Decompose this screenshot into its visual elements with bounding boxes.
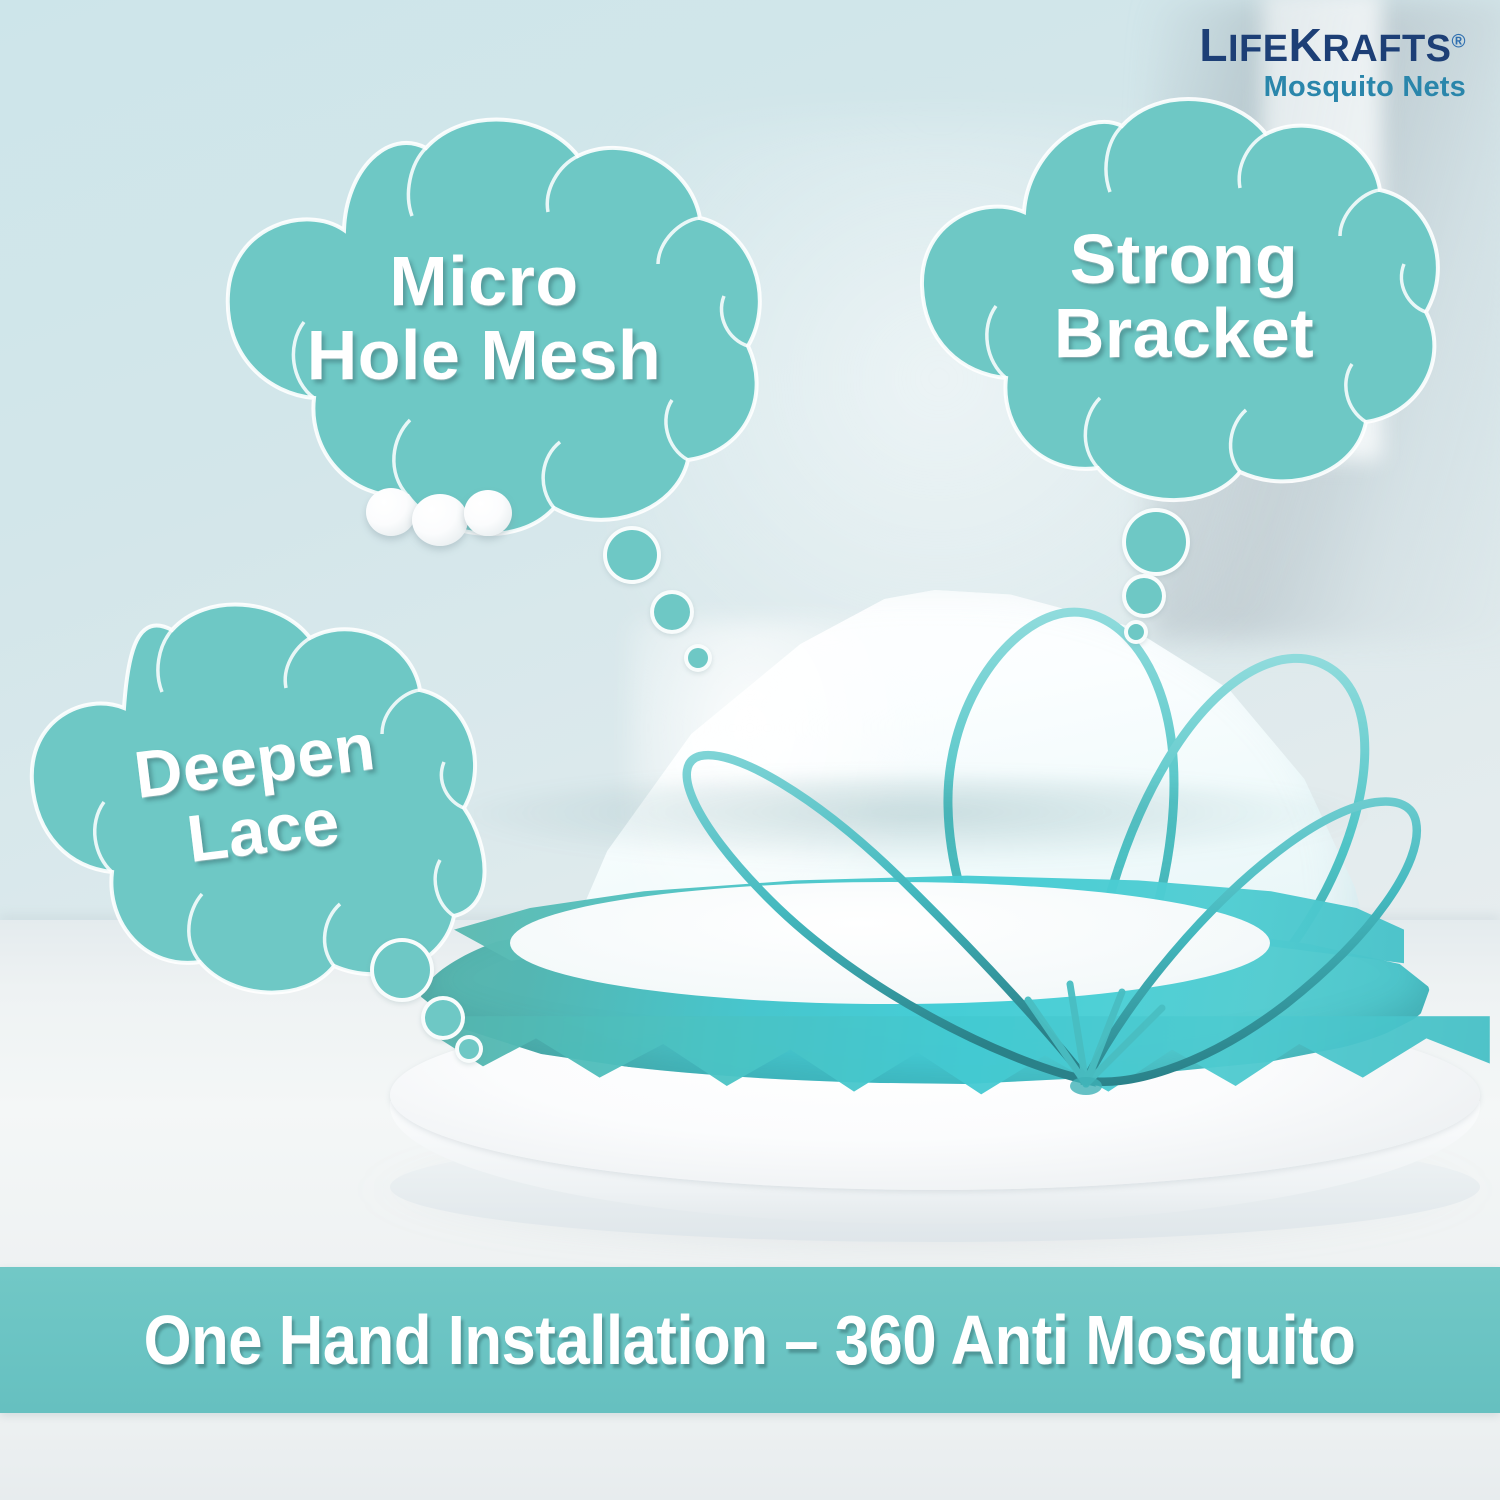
thought-dot-strong-2: [1122, 574, 1166, 618]
puff-bubble-2: [412, 494, 468, 546]
puff-bubble-1: [366, 488, 416, 536]
feature-cloud-strong-bracket: Strong Bracket: [904, 96, 1464, 496]
feature-cloud-deepen-lace: Deepen Lace: [20, 596, 500, 996]
thought-dot-strong-3: [1124, 620, 1148, 644]
thought-dot-micro-1: [603, 526, 661, 584]
bottom-headline-banner: One Hand Installation – 360 Anti Mosquit…: [0, 1267, 1500, 1413]
bracket-rib-hub: [380, 560, 1500, 1180]
banner-headline: One Hand Installation – 360 Anti Mosquit…: [144, 1300, 1356, 1380]
brand-logo: LIFEKRAFTS® Mosquito Nets: [1199, 22, 1466, 102]
thought-dot-deepen-2: [421, 996, 465, 1040]
brand-wordmark-ife: IFE: [1228, 28, 1289, 70]
brand-wordmark: LIFEKRAFTS®: [1199, 22, 1466, 68]
floor-strip: [0, 1404, 1500, 1500]
thought-dot-micro-2: [650, 590, 694, 634]
thought-dot-micro-3: [684, 644, 712, 672]
brand-wordmark-k: K: [1289, 19, 1323, 71]
brand-wordmark-l: L: [1199, 19, 1228, 71]
thought-dot-strong-1: [1122, 508, 1190, 576]
thought-dot-deepen-3: [455, 1035, 483, 1063]
brand-wordmark-rafts: RAFTS: [1322, 28, 1451, 70]
puff-bubble-3: [464, 490, 512, 536]
registered-trademark-icon: ®: [1452, 31, 1467, 52]
feature-cloud-micro-hole-mesh: Micro Hole Mesh: [196, 108, 772, 528]
product-mosquito-net: [380, 560, 1500, 1260]
thought-dot-deepen-1: [370, 938, 434, 1002]
brand-tagline: Mosquito Nets: [1199, 73, 1466, 102]
product-marketing-image: Micro Hole Mesh: [0, 0, 1500, 1500]
